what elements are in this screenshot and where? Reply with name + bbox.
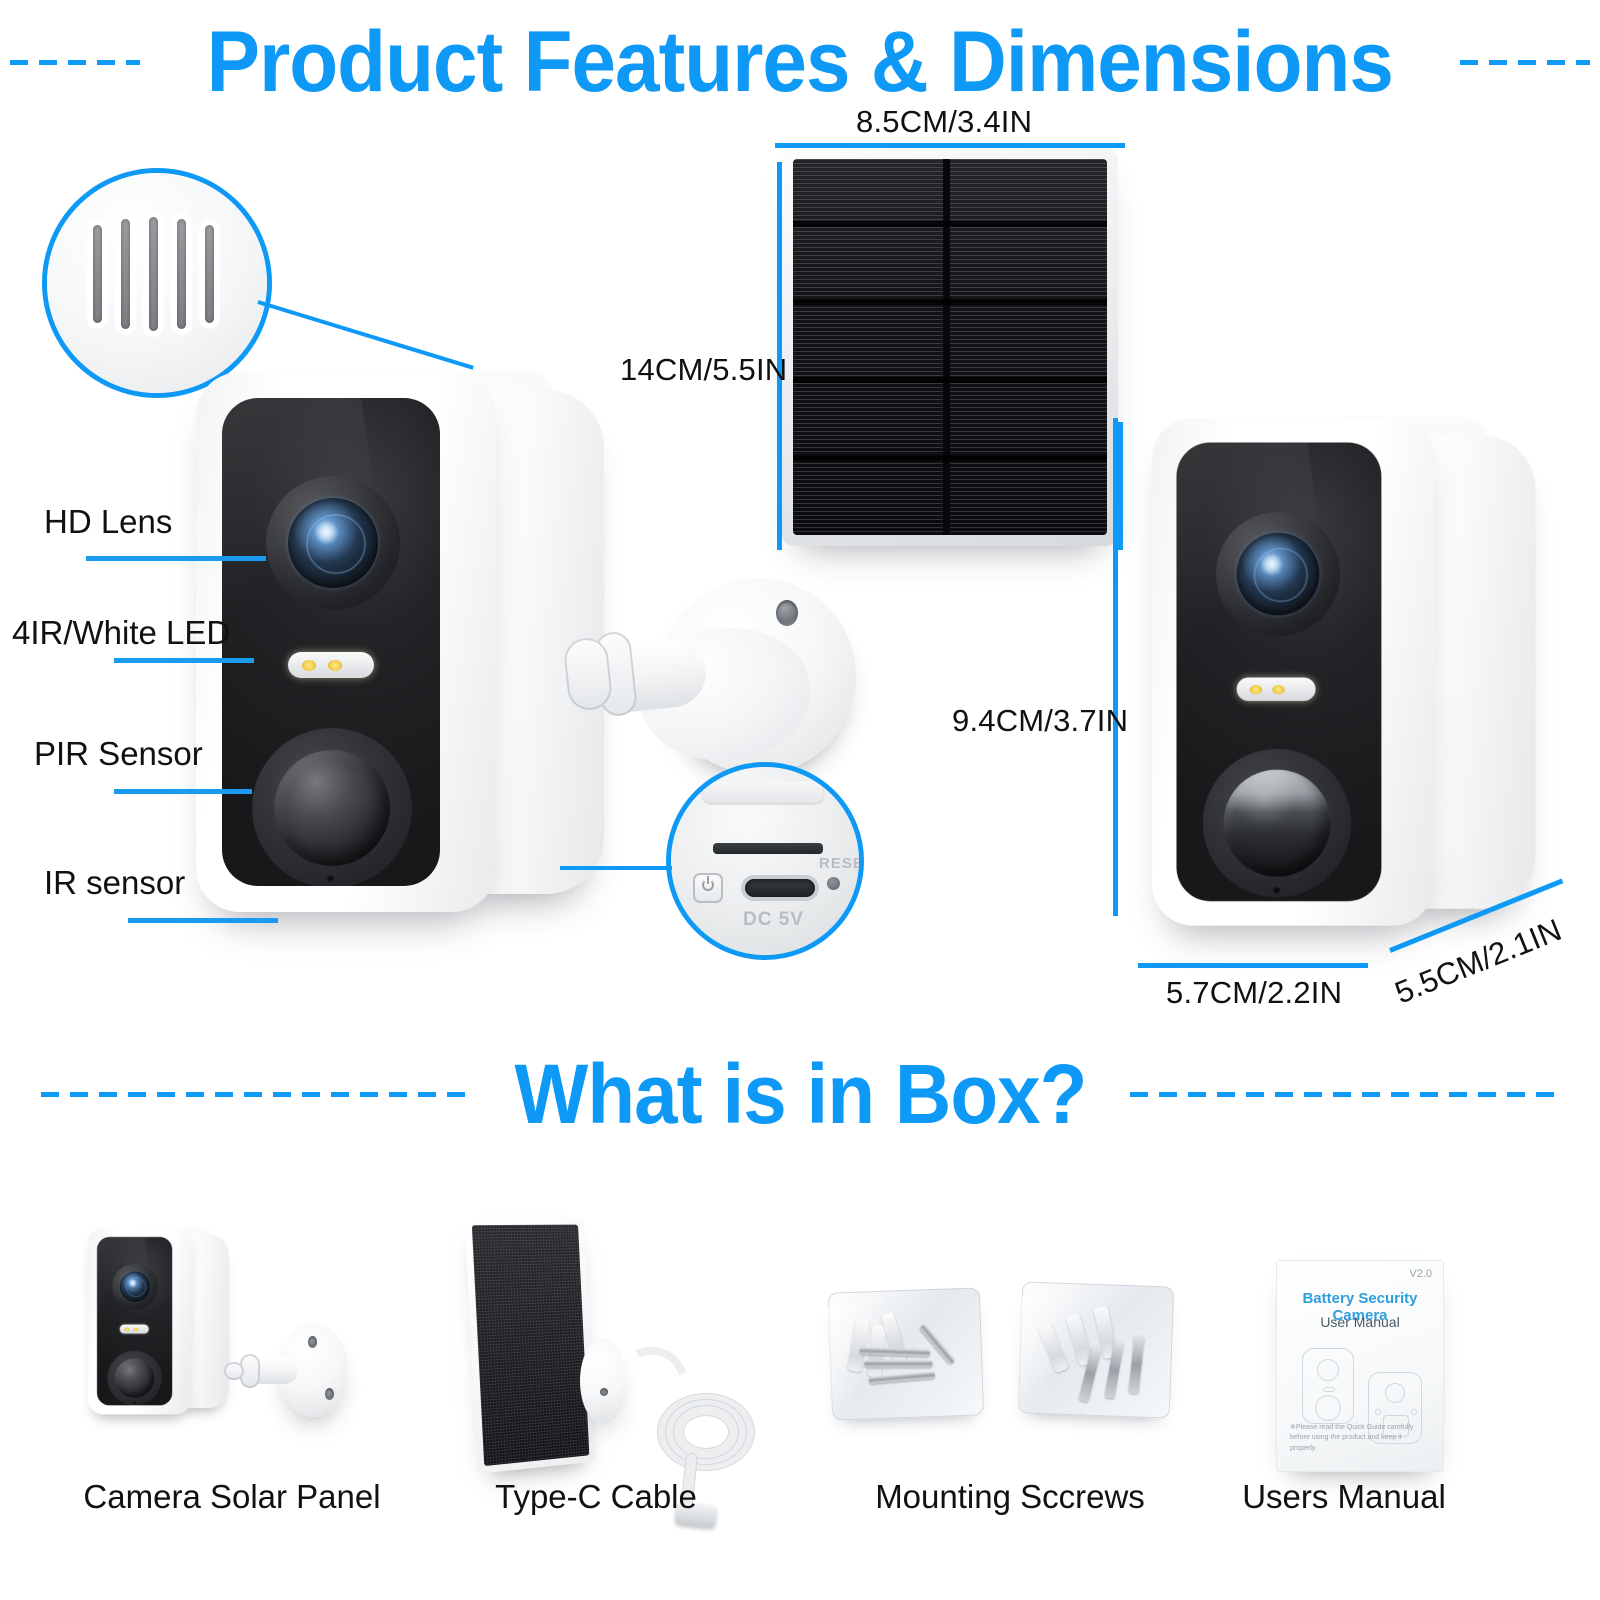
solar-panel-cells	[793, 159, 1107, 535]
camera-width-label: 5.7CM/2.2IN	[1166, 975, 1342, 1011]
box-solar-panel	[464, 1218, 596, 1474]
type-c-port	[741, 875, 819, 901]
hd-lens-ring	[266, 476, 400, 610]
led-emitter	[125, 1327, 130, 1331]
led-emitter	[1272, 685, 1284, 694]
screw	[920, 1324, 956, 1365]
manual-led-bar	[1323, 1387, 1335, 1392]
leader-hd-lens	[86, 556, 266, 561]
leader-ir-white-led	[114, 658, 254, 663]
camera-width-dimline	[1138, 963, 1368, 968]
camera-height-dimline	[1113, 418, 1118, 916]
leader-ir-sensor	[128, 918, 278, 923]
speaker-callout-circle	[42, 168, 272, 398]
caption-mounting-screws: Mounting Sccrews	[875, 1478, 1145, 1516]
box-bracket-screw-hole	[308, 1336, 317, 1348]
ir-sensor-hole	[1272, 886, 1280, 894]
ir-sensor-hole	[326, 874, 335, 883]
solar-width-label: 8.5CM/3.4IN	[856, 104, 1032, 140]
label-ir-sensor: IR sensor	[44, 864, 185, 902]
speaker-slot	[149, 217, 158, 331]
speaker-slot	[121, 219, 130, 329]
hd-lens-glass	[120, 1271, 150, 1301]
manual-subtitle: User Manual	[1276, 1314, 1444, 1330]
camera-front-panel	[97, 1237, 172, 1405]
screw	[1129, 1335, 1145, 1394]
caption-users-manual: Users Manual	[1242, 1478, 1446, 1516]
solar-panel-divider	[793, 377, 1107, 383]
label-ir-white-led: 4IR/White LED	[12, 614, 230, 652]
hd-lens-ring	[1216, 512, 1340, 636]
led-emitter	[1250, 685, 1262, 694]
infographic-canvas: Product Features & Dimensions HD Lens 4I	[0, 0, 1600, 1600]
port-callout-circle: RESET DC 5V	[666, 762, 864, 960]
speaker-slot	[205, 225, 214, 323]
manual-pir-circle	[1315, 1395, 1341, 1421]
box-solar-panel-cells	[472, 1225, 590, 1467]
manual-figure-front	[1302, 1348, 1354, 1424]
solar-panel-divider	[793, 221, 1107, 227]
solar-panel-divider	[793, 299, 1107, 305]
box-bracket-stub	[224, 1362, 244, 1380]
manual-back-dot	[1411, 1409, 1417, 1415]
camera-front-panel	[222, 398, 440, 886]
screw	[864, 1360, 932, 1367]
ir-sensor-hole	[133, 1401, 136, 1404]
camera-front-panel	[1176, 442, 1381, 901]
box-heading-dash-left	[41, 1092, 471, 1097]
speaker-slot	[177, 219, 186, 329]
camera-depth-label: 5.5CM/2.1IN	[1390, 912, 1567, 1011]
manual-back-dot	[1375, 1409, 1381, 1415]
box-heading-dash-right	[1130, 1092, 1560, 1097]
solar-width-dimline	[775, 143, 1125, 148]
manual-back-circle	[1385, 1383, 1405, 1403]
port-callout-leader	[560, 866, 672, 870]
solar-panel-divider	[793, 455, 1107, 461]
port-top-rail	[703, 781, 823, 803]
screw-bag	[1018, 1281, 1175, 1418]
power-icon-stem	[707, 876, 709, 884]
manual-footnote: ※Please read the Quick Guide carefully b…	[1290, 1423, 1430, 1455]
box-heading-row: What is in Box?	[0, 1042, 1600, 1146]
solar-panel-large	[782, 148, 1118, 546]
features-heading-row: Product Features & Dimensions	[0, 10, 1600, 114]
hd-lens-ring	[112, 1264, 158, 1310]
camera-height-label: 9.4CM/3.7IN	[952, 703, 1128, 739]
box-bracket-screw-hole	[325, 1388, 334, 1400]
speaker-slot	[93, 225, 102, 323]
pir-sensor-dome	[115, 1358, 154, 1397]
dc-label: DC 5V	[743, 909, 804, 931]
cable-coil	[674, 1406, 738, 1458]
leader-pir-sensor	[114, 789, 252, 794]
led-emitter	[328, 660, 342, 671]
page-title: Product Features & Dimensions	[207, 19, 1393, 105]
hd-lens-glass	[1237, 533, 1320, 616]
led-emitter	[134, 1327, 139, 1331]
reset-label: RESET	[819, 855, 864, 872]
speaker-callout-leader	[257, 300, 473, 370]
screw-bag	[828, 1287, 984, 1420]
solar-panel-busbar	[943, 159, 950, 535]
reset-hole[interactable]	[827, 877, 840, 890]
heading-dash-left	[10, 60, 140, 65]
bracket-screw-hole	[776, 600, 798, 626]
hd-lens-glass	[288, 498, 378, 588]
manual-version: V2.0	[1409, 1268, 1432, 1280]
wall-anchor	[1037, 1322, 1069, 1374]
caption-type-c-cable: Type-C Cable	[495, 1478, 697, 1516]
solar-height-dimline-right	[1118, 422, 1123, 550]
pir-sensor-dome	[1223, 770, 1330, 877]
led-emitter	[302, 660, 316, 671]
manual-cover: V2.0 Battery Security Camera User Manual…	[1276, 1260, 1444, 1472]
label-pir-sensor: PIR Sensor	[34, 735, 203, 773]
port-vent-slot	[713, 843, 823, 854]
solar-height-label: 14CM/5.5IN	[620, 352, 787, 388]
box-title: What is in Box?	[514, 1052, 1086, 1136]
caption-camera-solar-panel: Camera Solar Panel	[83, 1478, 380, 1516]
heading-dash-right	[1460, 60, 1590, 65]
label-hd-lens: HD Lens	[44, 503, 172, 541]
pir-sensor-dome	[274, 750, 390, 866]
manual-lens-circle	[1317, 1359, 1339, 1381]
